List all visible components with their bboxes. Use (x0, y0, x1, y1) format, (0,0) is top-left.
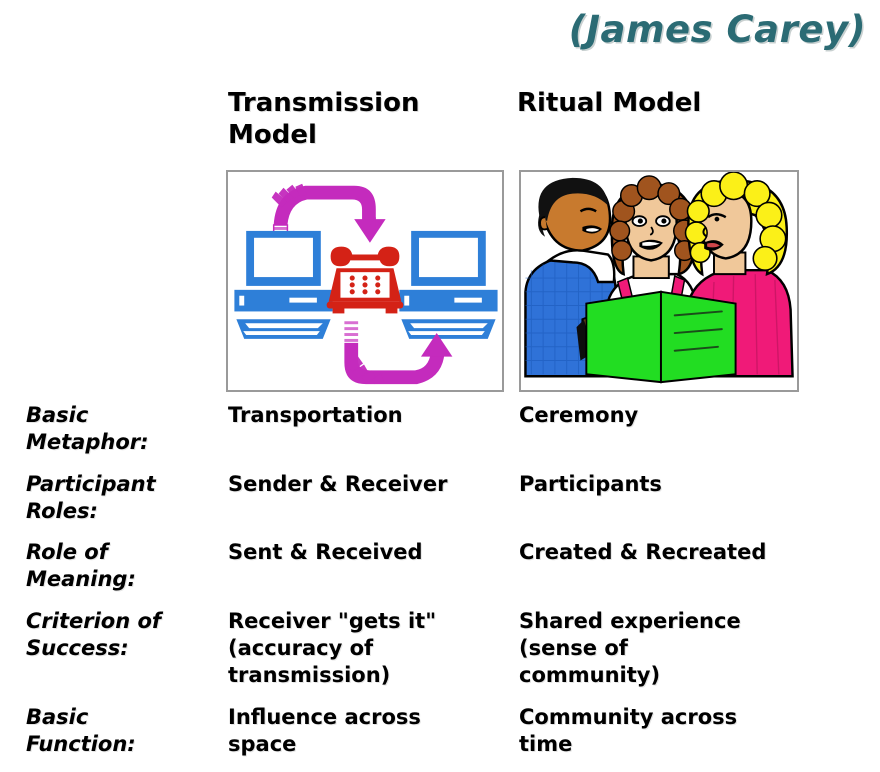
cell-transmission-role-of-meaning: Sent & Received (228, 539, 519, 566)
row-label-basic-function: Basic Function: (0, 704, 228, 759)
row-label-line: Criterion of (26, 608, 228, 635)
computer-left-icon (234, 231, 332, 339)
table-row: Basic Metaphor: Transportation Ceremony (0, 402, 880, 457)
table-row: Role of Meaning: Sent & Received Created… (0, 539, 880, 594)
row-label-line: Basic (26, 402, 228, 429)
cell-transmission-basic-metaphor: Transportation (228, 402, 519, 429)
cell-transmission-criterion-of-success: Receiver "gets it" (accuracy of transmis… (228, 608, 519, 690)
cell-line: time (519, 731, 880, 758)
column-header-ritual: Ritual Model (517, 88, 807, 120)
table-row: Basic Function: Influence across space C… (0, 704, 880, 759)
figure-transmission-model (226, 170, 504, 392)
cell-line: Ceremony (519, 402, 880, 429)
telephone-icon (327, 247, 404, 314)
figure-ritual-model (519, 170, 799, 392)
cell-line: Sent & Received (228, 539, 519, 566)
cell-line: Participants (519, 471, 880, 498)
column-header-ritual-line1: Ritual Model (517, 88, 701, 118)
column-header-transmission: Transmission Model (228, 88, 478, 151)
row-label-role-of-meaning: Role of Meaning: (0, 539, 228, 594)
cell-ritual-basic-metaphor: Ceremony (519, 402, 880, 429)
row-label-line: Role of (26, 539, 228, 566)
cell-transmission-participant-roles: Sender & Receiver (228, 471, 519, 498)
cell-line: Influence across (228, 704, 519, 731)
column-header-transmission-line2: Model (228, 120, 317, 150)
cell-line: (accuracy of (228, 635, 519, 662)
cell-line: Community across (519, 704, 880, 731)
row-label-criterion-of-success: Criterion of Success: (0, 608, 228, 663)
column-header-transmission-line1: Transmission (228, 88, 419, 118)
row-label-line: Meaning: (26, 566, 228, 593)
cell-line: space (228, 731, 519, 758)
row-label-line: Roles: (26, 498, 228, 525)
cell-transmission-basic-function: Influence across space (228, 704, 519, 759)
cell-ritual-criterion-of-success: Shared experience (sense of community) (519, 608, 880, 690)
row-label-line: Basic (26, 704, 228, 731)
computer-right-icon (399, 231, 497, 339)
cell-ritual-role-of-meaning: Created & Recreated (519, 539, 880, 566)
row-label-line: Function: (26, 731, 228, 758)
cell-line: transmission) (228, 662, 519, 689)
cell-ritual-basic-function: Community across time (519, 704, 880, 759)
cell-line: Transportation (228, 402, 519, 429)
cell-ritual-participant-roles: Participants (519, 471, 880, 498)
cell-line: Receiver "gets it" (228, 608, 519, 635)
row-label-participant-roles: Participant Roles: (0, 471, 228, 526)
comparison-table: Basic Metaphor: Transportation Ceremony … (0, 402, 880, 772)
cell-line: Shared experience (519, 608, 880, 635)
cell-line: (sense of (519, 635, 880, 662)
row-label-basic-metaphor: Basic Metaphor: (0, 402, 228, 457)
row-label-line: Success: (26, 635, 228, 662)
table-row: Participant Roles: Sender & Receiver Par… (0, 471, 880, 526)
row-label-line: Participant (26, 471, 228, 498)
table-row: Criterion of Success: Receiver "gets it"… (0, 608, 880, 690)
cell-line: Sender & Receiver (228, 471, 519, 498)
cell-line: Created & Recreated (519, 539, 880, 566)
row-label-line: Metaphor: (26, 429, 228, 456)
page-title: (James Carey) (569, 8, 866, 51)
cell-line: community) (519, 662, 880, 689)
green-book-icon (586, 292, 735, 382)
